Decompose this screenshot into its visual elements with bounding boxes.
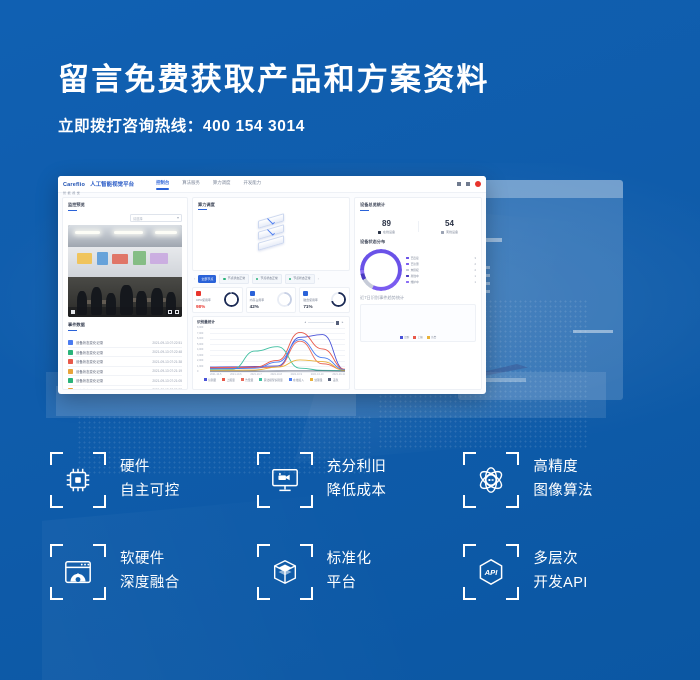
line-chart-plot: 8,0007,0006,0005,0004,0003,0002,0001,000… bbox=[210, 328, 345, 372]
gauge-icon bbox=[250, 291, 255, 296]
device-select[interactable]: 请选择 bbox=[130, 214, 182, 222]
x-axis-tick: 2021-10-8 bbox=[270, 373, 281, 376]
feature-item-1[interactable]: 硬件自主可控 bbox=[50, 452, 257, 508]
feature-line-1: 标准化 bbox=[327, 548, 372, 572]
slider-knob[interactable] bbox=[336, 321, 339, 325]
chip-node-status[interactable]: 节点状态正常 bbox=[285, 274, 315, 284]
tab-dev-capability[interactable]: 开发能力 bbox=[243, 180, 261, 189]
event-name: 设备状态变化记录 bbox=[76, 340, 103, 345]
frame-corner bbox=[257, 544, 270, 557]
gridline bbox=[210, 372, 345, 373]
frame-corner bbox=[463, 452, 476, 465]
frame-corner bbox=[463, 544, 476, 557]
legend-value: 2 bbox=[475, 263, 477, 266]
x-axis-tick: 2021-10-5 bbox=[210, 373, 221, 376]
kpi-row: 89 在线设备 54 离线设备 bbox=[355, 214, 481, 237]
wall-poster bbox=[150, 253, 168, 264]
chevron-left-icon[interactable]: ‹ bbox=[194, 276, 195, 281]
feature-grid: 硬件自主可控充分利旧降低成本高精度图像算法软硬件深度融合标准化平台API多层次开… bbox=[50, 452, 670, 600]
gauge-row: CPU使用率98%内存占用率42%磁盘使用率71% bbox=[192, 287, 350, 313]
ceiling-lamp bbox=[75, 231, 100, 234]
legend-label: 上报量 bbox=[227, 378, 235, 382]
status-dot-icon bbox=[256, 278, 258, 280]
page-title: 留言免费获取产品和方案资料 bbox=[58, 62, 490, 98]
chevron-right-icon[interactable]: › bbox=[318, 276, 319, 281]
title-underline bbox=[68, 330, 77, 331]
event-name: 设备状态变化记录 bbox=[76, 350, 103, 355]
gauge-98: CPU使用率98% bbox=[192, 287, 243, 313]
legend-value: 2 bbox=[475, 269, 477, 272]
event-list[interactable]: 设备状态变化记录2021-09-13 07:22:51设备状态变化记录2021-… bbox=[63, 338, 187, 389]
feature-icon-frame bbox=[50, 452, 106, 508]
logo-mark-text: Careflio bbox=[63, 182, 85, 188]
ceiling-lamp bbox=[155, 231, 178, 234]
title-underline bbox=[198, 209, 207, 210]
kpi-offline-value: 54 bbox=[418, 219, 481, 228]
slider-max-label: ► bbox=[341, 321, 344, 324]
legend-label: 丢包 bbox=[333, 378, 338, 382]
slider-track[interactable] bbox=[308, 322, 334, 323]
monitor-panel: 监控预览 请选择 bbox=[62, 197, 188, 390]
frame-corner bbox=[50, 587, 63, 600]
frame-corner bbox=[50, 452, 63, 465]
feature-text: 充分利旧降低成本 bbox=[327, 456, 387, 504]
event-timestamp: 2021-09-13 07:22:51 bbox=[152, 341, 182, 345]
chip-label: 节点状态正常 bbox=[228, 277, 245, 281]
gauge-icon bbox=[303, 291, 308, 296]
online-marker-icon bbox=[378, 231, 381, 234]
frame-corner bbox=[93, 544, 106, 557]
video-ceiling bbox=[68, 225, 182, 249]
video-preview[interactable] bbox=[68, 225, 182, 317]
line-chart-legend: 识别量上报量告警量算法模型识别量在线接入处理量丢包 bbox=[197, 378, 345, 382]
mini-bar-legend: 识别上报告警 bbox=[361, 335, 475, 339]
legend-label: 未授权 bbox=[411, 268, 419, 272]
minibar-caption: 近7日识别事件趋势统计 bbox=[355, 293, 481, 301]
compute-panel-title: 算力调度 bbox=[198, 202, 215, 208]
x-axis-tick: 2021-10-11 bbox=[332, 373, 345, 376]
frame-corner bbox=[463, 587, 476, 600]
donut-legend: 已连接3已注册2未授权2离线中1维护中1 bbox=[406, 255, 476, 285]
frame-corner bbox=[257, 452, 270, 465]
legend-swatch bbox=[222, 378, 225, 381]
gauge-42: 内存占用率42% bbox=[246, 287, 297, 313]
gauge-name: 内存占用率 bbox=[250, 298, 264, 302]
close-icon[interactable] bbox=[475, 181, 481, 187]
legend-swatch bbox=[406, 269, 409, 272]
event-timestamp: 2021-09-13 07:21:38 bbox=[152, 360, 182, 364]
frame-corner bbox=[506, 544, 519, 557]
feature-line-2: 平台 bbox=[327, 572, 372, 596]
feature-line-1: 软硬件 bbox=[120, 548, 180, 572]
feature-line-1: 充分利旧 bbox=[327, 456, 387, 480]
frame-corner bbox=[50, 495, 63, 508]
chip-node-status[interactable]: 节点状态正常 bbox=[219, 274, 249, 284]
kpi-offline-label: 离线设备 bbox=[446, 230, 458, 234]
mini-legend-item: 上报 bbox=[413, 335, 423, 339]
list-item[interactable]: 设备状态变化记录2021-09-13 07:22:48 bbox=[68, 348, 182, 358]
feature-line-2: 深度融合 bbox=[120, 572, 180, 596]
line-chart-panel: 识别量统计 ◄ ► 8,0007,0006,0005,0004,0003,000… bbox=[192, 316, 350, 390]
frame-corner bbox=[506, 587, 519, 600]
event-name: 设备状态变化记录 bbox=[76, 369, 103, 374]
legend-item[interactable]: 上报量 bbox=[222, 378, 235, 382]
legend-item[interactable]: 告警量 bbox=[241, 378, 254, 382]
frame-corner bbox=[463, 495, 476, 508]
legend-swatch bbox=[406, 257, 409, 260]
frame-corner bbox=[300, 452, 313, 465]
frame-corner bbox=[257, 587, 270, 600]
y-axis-tick: 5,000 bbox=[197, 344, 203, 347]
feature-item-4[interactable]: 软硬件深度融合 bbox=[50, 544, 257, 600]
play-stop-icon[interactable] bbox=[71, 310, 75, 314]
slider-min-label: ◄ bbox=[304, 321, 307, 324]
event-list-title: 事件数据 bbox=[63, 317, 187, 330]
legend-swatch bbox=[406, 275, 409, 278]
x-axis-tick: 2021-10-7 bbox=[250, 373, 261, 376]
feature-line-1: 硬件 bbox=[120, 456, 180, 480]
feature-line-1: 高精度 bbox=[533, 456, 593, 480]
wall-poster bbox=[77, 253, 92, 264]
monitor-panel-title: 监控预览 bbox=[63, 198, 187, 210]
frame-corner bbox=[257, 495, 270, 508]
gauge-value: 98% bbox=[196, 304, 211, 309]
gauge-name: 磁盘使用率 bbox=[303, 298, 317, 302]
event-name: 设备状态变化记录 bbox=[76, 378, 103, 383]
legend-label: 上报 bbox=[418, 335, 423, 339]
feature-item-3[interactable]: 高精度图像算法 bbox=[463, 452, 670, 508]
offline-marker-icon bbox=[441, 231, 444, 234]
device-select-row: 请选择 bbox=[63, 214, 187, 225]
legend-swatch bbox=[413, 336, 416, 339]
feature-text: 高精度图像算法 bbox=[533, 456, 593, 504]
app-name: 人工智能视觉平台 bbox=[90, 180, 134, 188]
donut-chart-block: 已连接3已注册2未授权2离线中1维护中1 bbox=[355, 247, 481, 293]
feature-line-2: 自主可控 bbox=[120, 480, 180, 504]
kpi-offline-label-row: 离线设备 bbox=[418, 230, 481, 234]
feature-text: 硬件自主可控 bbox=[120, 456, 180, 504]
y-axis-tick: 1,000 bbox=[197, 366, 203, 369]
frame-corner bbox=[93, 587, 106, 600]
title-underline bbox=[68, 210, 77, 211]
wall-poster bbox=[133, 251, 146, 265]
event-name: 设备状态变化记录 bbox=[76, 359, 103, 364]
legend-value: 1 bbox=[475, 275, 477, 278]
event-type-icon bbox=[68, 359, 73, 364]
kpi-online: 89 在线设备 bbox=[355, 219, 418, 234]
hero-text-block: 留言免费获取产品和方案资料 立即拨打咨询热线：400 154 3014 bbox=[58, 62, 490, 136]
y-axis-tick: 7,000 bbox=[197, 333, 203, 336]
legend-swatch bbox=[289, 378, 292, 381]
dashboard-screenshot-composition: 54 Careflio 智能视觉 bbox=[58, 176, 642, 416]
wall-poster bbox=[112, 254, 128, 264]
mini-bar-panel: 识别上报告警 bbox=[360, 304, 476, 342]
frame-corner bbox=[93, 452, 106, 465]
tab-algorithm-service[interactable]: 算法服务 bbox=[182, 180, 200, 189]
y-axis-tick: 6,000 bbox=[197, 338, 203, 341]
gauge-ring bbox=[331, 292, 346, 307]
frame-corner bbox=[300, 587, 313, 600]
tab-compute-scheduling[interactable]: 算力调度 bbox=[213, 180, 231, 189]
event-type-icon bbox=[68, 340, 73, 345]
frame-corner bbox=[300, 544, 313, 557]
donut-chart bbox=[360, 249, 402, 291]
y-axis-tick: 3,000 bbox=[197, 355, 203, 358]
event-timestamp: 2021-09-13 07:22:48 bbox=[152, 350, 182, 354]
device-select-placeholder: 请选择 bbox=[133, 216, 143, 221]
x-axis-tick: 2021-10-6 bbox=[230, 373, 241, 376]
dashboard-body: 监控预览 请选择 bbox=[58, 193, 486, 394]
chevron-down-icon bbox=[177, 217, 179, 219]
feature-item-6[interactable]: API多层次开发API bbox=[463, 544, 670, 600]
mini-legend-item: 告警 bbox=[427, 335, 437, 339]
feature-text: 标准化平台 bbox=[327, 548, 372, 596]
donut-legend-item[interactable]: 维护中1 bbox=[406, 279, 476, 285]
tab-console[interactable]: 控制台 bbox=[156, 180, 169, 189]
feature-item-2[interactable]: 充分利旧降低成本 bbox=[257, 452, 464, 508]
title-underline bbox=[360, 210, 369, 211]
compute-scheduling-panel: 算力调度 bbox=[192, 197, 350, 271]
feature-line-2: 降低成本 bbox=[327, 480, 387, 504]
feature-line-2: 开发API bbox=[533, 572, 587, 596]
legend-label: 告警量 bbox=[245, 378, 253, 382]
chip-node-status[interactable]: 节点状态正常 bbox=[252, 274, 282, 284]
legend-item[interactable]: 在线接入 bbox=[289, 378, 304, 382]
chip-all-nodes[interactable]: 全部节点 bbox=[198, 275, 216, 283]
kpi-offline: 54 离线设备 bbox=[418, 219, 481, 234]
kpi-online-label-row: 在线设备 bbox=[355, 230, 418, 234]
legend-label: 识别 bbox=[404, 335, 409, 339]
legend-label: 识别量 bbox=[208, 378, 216, 382]
minimize-icon[interactable] bbox=[457, 182, 461, 186]
line-series bbox=[210, 339, 345, 369]
fullscreen-icon[interactable] bbox=[175, 310, 179, 314]
video-right-controls bbox=[168, 310, 179, 314]
feature-icon-frame bbox=[257, 544, 313, 600]
feature-icon-frame: API bbox=[463, 544, 519, 600]
center-column: 算力调度 ‹ 全部节点 节点状态正常 bbox=[192, 197, 350, 390]
frame-corner bbox=[506, 452, 519, 465]
mini-legend-item: 识别 bbox=[400, 335, 410, 339]
chip-label: 节点状态正常 bbox=[260, 277, 277, 281]
event-timestamp: 2021-09-13 07:20:53 bbox=[152, 388, 182, 389]
legend-label: 处理量 bbox=[314, 378, 322, 382]
hotline-text: 立即拨打咨询热线：400 154 3014 bbox=[58, 114, 490, 136]
feature-line-2: 图像算法 bbox=[533, 480, 593, 504]
y-axis-tick: 8,000 bbox=[197, 327, 203, 330]
frame-corner bbox=[93, 495, 106, 508]
list-item[interactable]: 设备状态变化记录2021-09-13 07:22:51 bbox=[68, 338, 182, 348]
ceiling-lamp bbox=[114, 231, 144, 234]
feature-icon-frame bbox=[463, 452, 519, 508]
y-axis-tick: 2,000 bbox=[197, 360, 203, 363]
y-axis-tick: 4,000 bbox=[197, 349, 203, 352]
event-type-icon bbox=[68, 369, 73, 374]
feature-item-5[interactable]: 标准化平台 bbox=[257, 544, 464, 600]
legend-label: 已注册 bbox=[411, 262, 419, 266]
app-logo[interactable]: Careflio 智能视觉 人工智能视觉平台 bbox=[63, 176, 134, 195]
legend-swatch bbox=[310, 378, 313, 381]
legend-item[interactable]: 识别量 bbox=[204, 378, 217, 382]
legend-value: 3 bbox=[475, 257, 477, 260]
logo-sub-text: 智能视觉 bbox=[63, 191, 85, 195]
kpi-online-value: 89 bbox=[355, 219, 418, 228]
ghost-axis-tick bbox=[486, 378, 526, 382]
list-item[interactable]: 设备状态变化记录2021-09-13 07:21:38 bbox=[68, 357, 182, 367]
ghost-slider bbox=[573, 330, 613, 333]
maximize-icon[interactable] bbox=[466, 182, 470, 186]
event-timestamp: 2021-09-13 07:21:05 bbox=[152, 379, 182, 383]
kpi-online-label: 在线设备 bbox=[383, 230, 395, 234]
legend-item[interactable]: 丢包 bbox=[328, 378, 338, 382]
x-axis-tick: 2021-10-9 bbox=[291, 373, 302, 376]
legend-label: 维护中 bbox=[411, 280, 419, 284]
video-controls-bar bbox=[68, 307, 182, 317]
status-dot-icon bbox=[289, 278, 291, 280]
device-overview-title: 设备总览统计 bbox=[355, 198, 481, 210]
legend-swatch bbox=[241, 378, 244, 381]
legend-swatch bbox=[427, 336, 430, 339]
line-series bbox=[210, 335, 345, 370]
feature-icon-frame bbox=[257, 452, 313, 508]
gauge-ring bbox=[224, 292, 239, 307]
list-item[interactable]: 设备状态变化记录2021-09-13 07:21:05 bbox=[68, 376, 182, 386]
legend-label: 在线接入 bbox=[293, 378, 304, 382]
feature-line-1: 多层次 bbox=[533, 548, 587, 572]
legend-label: 告警 bbox=[431, 335, 436, 339]
device-overview-panel: 设备总览统计 89 在线设备 54 离线设备 bbox=[354, 197, 482, 390]
dashboard-window: Careflio 智能视觉 人工智能视觉平台 控制台 算法服务 算力调度 开发能… bbox=[58, 176, 486, 394]
list-item[interactable]: 设备状态变化记录2021-09-13 07:20:53 bbox=[68, 386, 182, 389]
legend-label: 已连接 bbox=[411, 256, 419, 260]
event-type-icon bbox=[68, 378, 73, 383]
legend-value: 1 bbox=[475, 281, 477, 284]
window-controls bbox=[457, 181, 481, 187]
line-chart-x-axis: 2021-10-52021-10-62021-10-72021-10-82021… bbox=[210, 373, 345, 376]
feature-icon-frame bbox=[50, 544, 106, 600]
gauge-icon bbox=[196, 291, 201, 296]
event-name: 设备状态变化记录 bbox=[76, 388, 103, 389]
y-axis-tick: 0 bbox=[197, 371, 198, 374]
feature-text: 多层次开发API bbox=[533, 548, 587, 596]
frame-corner bbox=[300, 495, 313, 508]
list-item[interactable]: 设备状态变化记录2021-09-13 07:21:19 bbox=[68, 367, 182, 377]
legend-item[interactable]: 处理量 bbox=[310, 378, 323, 382]
status-dot-icon bbox=[223, 278, 225, 280]
dashboard-titlebar: Careflio 智能视觉 人工智能视觉平台 控制台 算法服务 算力调度 开发能… bbox=[58, 176, 486, 193]
event-type-icon bbox=[68, 350, 73, 355]
gauge-name: CPU使用率 bbox=[196, 298, 211, 302]
legend-swatch bbox=[400, 336, 403, 339]
chart-range-slider[interactable]: ◄ ► bbox=[304, 321, 344, 325]
stacked-layers-icon bbox=[258, 217, 284, 251]
line-series-group bbox=[210, 328, 345, 372]
legend-swatch bbox=[328, 378, 331, 381]
gauge-71: 磁盘使用率71% bbox=[299, 287, 350, 313]
legend-swatch bbox=[406, 281, 409, 284]
chip-label: 节点状态正常 bbox=[293, 277, 310, 281]
snapshot-icon[interactable] bbox=[168, 310, 172, 314]
gauge-ring bbox=[277, 292, 292, 307]
frame-corner bbox=[506, 495, 519, 508]
event-timestamp: 2021-09-13 07:21:19 bbox=[152, 369, 182, 373]
gauge-value: 71% bbox=[303, 304, 317, 309]
wall-poster bbox=[97, 252, 108, 265]
frame-corner bbox=[50, 544, 63, 557]
donut-title: 设备状态分布 bbox=[355, 237, 481, 247]
legend-swatch bbox=[259, 378, 262, 381]
legend-swatch bbox=[204, 378, 207, 381]
svg-text:API: API bbox=[484, 568, 499, 577]
legend-label: 算法模型识别量 bbox=[264, 378, 283, 382]
x-axis-tick: 2021-10-10 bbox=[311, 373, 324, 376]
legend-swatch bbox=[406, 263, 409, 266]
legend-item[interactable]: 算法模型识别量 bbox=[259, 378, 282, 382]
dashboard-nav-tabs: 控制台 算法服务 算力调度 开发能力 bbox=[156, 180, 261, 189]
gauge-value: 42% bbox=[250, 304, 264, 309]
feature-text: 软硬件深度融合 bbox=[120, 548, 180, 596]
event-type-icon bbox=[68, 388, 73, 389]
legend-label: 离线中 bbox=[411, 274, 419, 278]
node-chip-row: ‹ 全部节点 节点状态正常 节点状态正常 节点状态正常 › bbox=[192, 274, 350, 284]
